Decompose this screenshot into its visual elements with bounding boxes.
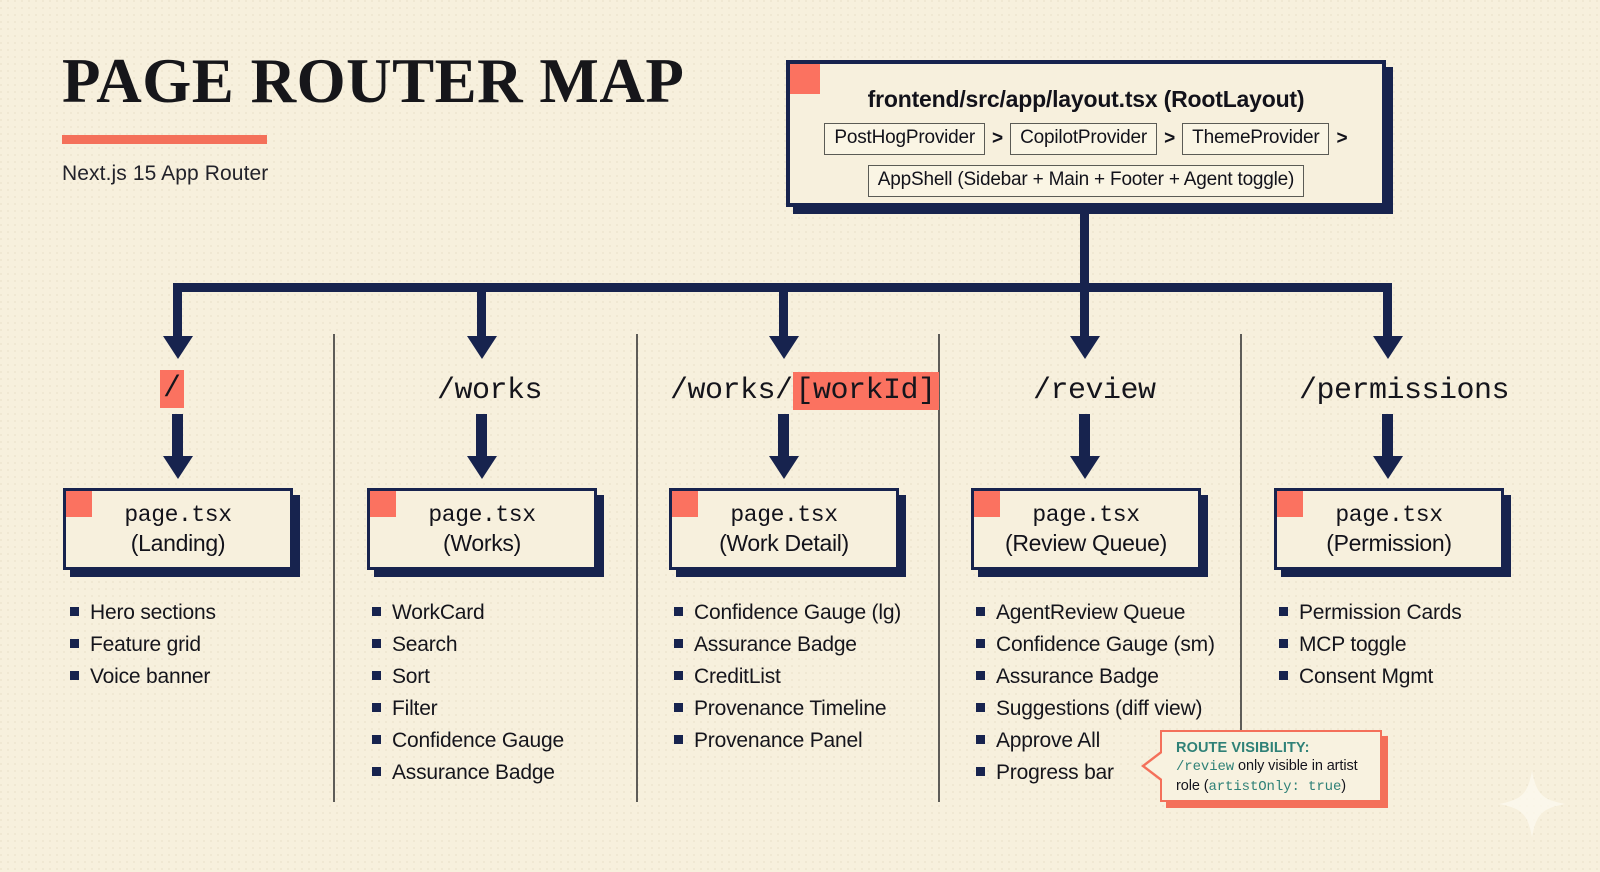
list-item: Provenance Timeline (674, 697, 901, 721)
route-segment-static: /works/ (670, 374, 793, 408)
list-item-label: AgentReview Queue (996, 601, 1185, 625)
column-divider-1 (333, 334, 335, 802)
arrow-head-down-1 (163, 336, 193, 359)
arrow-head-down-page-4 (1070, 456, 1100, 479)
bullet-square-icon (976, 607, 985, 616)
page-box-component: (Landing) (131, 530, 225, 557)
title-block: PAGE ROUTER MAP Next.js 15 App Router (62, 48, 762, 186)
bullet-square-icon (976, 767, 985, 776)
connector-trunk-vertical (1080, 207, 1089, 291)
bullet-square-icon (372, 607, 381, 616)
route-label-landing: / (160, 372, 184, 406)
page-title: PAGE ROUTER MAP (62, 48, 762, 114)
provider-chain-row: PostHogProvider > CopilotProvider > Them… (790, 123, 1382, 155)
connector-route-to-page-1 (172, 414, 183, 460)
page-box-permissions: page.tsx (Permission) (1274, 488, 1504, 570)
page-box-landing: page.tsx (Landing) (63, 488, 293, 570)
list-item: Provenance Panel (674, 729, 901, 753)
list-item-label: Sort (392, 665, 430, 689)
list-item: Suggestions (diff view) (976, 697, 1215, 721)
arrow-head-down-5 (1373, 336, 1403, 359)
list-item-label: Assurance Badge (392, 761, 555, 785)
list-item-label: WorkCard (392, 601, 485, 625)
bullet-square-icon (70, 671, 79, 680)
arrow-head-down-3 (769, 336, 799, 359)
list-item-label: Progress bar (996, 761, 1114, 785)
arrow-head-down-page-1 (163, 456, 193, 479)
callout-heading: ROUTE VISIBILITY: (1176, 740, 1370, 756)
list-item-label: Consent Mgmt (1299, 665, 1433, 689)
list-item: AgentReview Queue (976, 601, 1215, 625)
bullet-square-icon (372, 639, 381, 648)
feature-list-landing: Hero sections Feature grid Voice banner (70, 601, 216, 697)
connector-route-to-page-5 (1382, 414, 1393, 460)
callout-code-flag: artistOnly: true (1208, 779, 1341, 795)
list-item: Filter (372, 697, 564, 721)
bullet-square-icon (674, 735, 683, 744)
bullet-square-icon (70, 607, 79, 616)
list-item: MCP toggle (1279, 633, 1462, 657)
bullet-square-icon (976, 703, 985, 712)
list-item-label: MCP toggle (1299, 633, 1406, 657)
page-box-file: page.tsx (124, 502, 231, 528)
list-item: Confidence Gauge (lg) (674, 601, 901, 625)
callout-body: /review only visible in artist role (art… (1176, 757, 1370, 797)
arrow-head-down-2 (467, 336, 497, 359)
feature-list-permissions: Permission Cards MCP toggle Consent Mgmt (1279, 601, 1462, 697)
bullet-square-icon (674, 607, 683, 616)
list-item-label: CreditList (694, 665, 781, 689)
list-item: Search (372, 633, 564, 657)
chain-separator: > (1164, 128, 1175, 150)
bullet-square-icon (372, 735, 381, 744)
connector-drop-5 (1383, 283, 1392, 340)
route-label-works: /works (437, 374, 542, 408)
list-item-label: Search (392, 633, 457, 657)
bullet-square-icon (372, 671, 381, 680)
connector-drop-2 (477, 283, 486, 340)
route-segment-static: /review (1033, 374, 1156, 408)
list-item: Assurance Badge (976, 665, 1215, 689)
bullet-square-icon (674, 703, 683, 712)
appshell-row: AppShell (Sidebar + Main + Footer + Agen… (790, 165, 1382, 197)
arrow-head-down-page-3 (769, 456, 799, 479)
bullet-square-icon (372, 703, 381, 712)
diagram-canvas: PAGE ROUTER MAP Next.js 15 App Router fr… (0, 0, 1600, 872)
list-item-label: Assurance Badge (694, 633, 857, 657)
page-box-file: page.tsx (1335, 502, 1442, 528)
list-item-label: Confidence Gauge (392, 729, 564, 753)
bullet-square-icon (372, 767, 381, 776)
list-item: Feature grid (70, 633, 216, 657)
bullet-square-icon (976, 671, 985, 680)
list-item-label: Hero sections (90, 601, 216, 625)
route-label-review: /review (1033, 374, 1156, 408)
arrow-head-down-page-2 (467, 456, 497, 479)
callout-code-route: /review (1176, 759, 1234, 775)
callout-notch-fill (1145, 750, 1166, 782)
route-segment-static: /works (437, 374, 542, 408)
arrow-head-down-page-5 (1373, 456, 1403, 479)
route-label-work-detail: /works/[workId] (670, 374, 939, 408)
list-item: Voice banner (70, 665, 216, 689)
list-item-label: Permission Cards (1299, 601, 1462, 625)
feature-list-work-detail: Confidence Gauge (lg) Assurance Badge Cr… (674, 601, 901, 761)
page-box-component: (Permission) (1326, 530, 1451, 557)
route-segment-highlighted: / (160, 370, 184, 408)
title-underline-rule (62, 135, 267, 144)
page-box-component: (Works) (443, 530, 521, 557)
connector-drop-1 (173, 283, 182, 340)
route-segment-highlighted: [workId] (793, 372, 939, 410)
bullet-square-icon (976, 639, 985, 648)
list-item: Consent Mgmt (1279, 665, 1462, 689)
page-box-file: page.tsx (1032, 502, 1139, 528)
page-box-file: page.tsx (428, 502, 535, 528)
provider-chip-theme: ThemeProvider (1182, 123, 1329, 155)
bullet-square-icon (674, 671, 683, 680)
list-item: WorkCard (372, 601, 564, 625)
route-label-permissions: /permissions (1299, 374, 1509, 408)
connector-route-to-page-4 (1079, 414, 1090, 460)
connector-route-to-page-2 (476, 414, 487, 460)
list-item-label: Suggestions (diff view) (996, 697, 1202, 721)
page-box-component: (Review Queue) (1005, 530, 1167, 557)
appshell-chip: AppShell (Sidebar + Main + Footer + Agen… (868, 165, 1304, 197)
page-box-work-detail: page.tsx (Work Detail) (669, 488, 899, 570)
bullet-square-icon (674, 639, 683, 648)
page-box-file: page.tsx (730, 502, 837, 528)
connector-route-to-page-3 (778, 414, 789, 460)
list-item: Confidence Gauge (372, 729, 564, 753)
list-item: Assurance Badge (372, 761, 564, 785)
list-item: Hero sections (70, 601, 216, 625)
feature-list-works: WorkCard Search Sort Filter Confidence G… (372, 601, 564, 793)
list-item: Assurance Badge (674, 633, 901, 657)
provider-chip-copilot: CopilotProvider (1010, 123, 1157, 155)
chain-separator: > (1336, 128, 1347, 150)
root-layout-card: frontend/src/app/layout.tsx (RootLayout)… (786, 60, 1386, 207)
chain-separator: > (992, 128, 1003, 150)
bullet-square-icon (1279, 671, 1288, 680)
route-visibility-callout: ROUTE VISIBILITY: /review only visible i… (1160, 730, 1382, 802)
page-box-works: page.tsx (Works) (367, 488, 597, 570)
list-item: CreditList (674, 665, 901, 689)
list-item: Confidence Gauge (sm) (976, 633, 1215, 657)
callout-text-2: ) (1341, 778, 1346, 794)
bullet-square-icon (1279, 639, 1288, 648)
bullet-square-icon (976, 735, 985, 744)
list-item-label: Feature grid (90, 633, 201, 657)
list-item-label: Provenance Timeline (694, 697, 886, 721)
column-divider-2 (636, 334, 638, 802)
root-layout-title: frontend/src/app/layout.tsx (RootLayout) (790, 86, 1382, 113)
connector-drop-4 (1080, 283, 1089, 340)
list-item-label: Filter (392, 697, 437, 721)
list-item: Sort (372, 665, 564, 689)
bullet-square-icon (1279, 607, 1288, 616)
bullet-square-icon (70, 639, 79, 648)
list-item-label: Assurance Badge (996, 665, 1159, 689)
list-item-label: Provenance Panel (694, 729, 862, 753)
sparkle-icon (1496, 768, 1568, 840)
list-item-label: Voice banner (90, 665, 210, 689)
provider-chip-posthog: PostHogProvider (824, 123, 985, 155)
connector-drop-3 (779, 283, 788, 340)
arrow-head-down-4 (1070, 336, 1100, 359)
page-subtitle: Next.js 15 App Router (62, 162, 762, 186)
corner-accent-square (790, 64, 820, 94)
list-item: Permission Cards (1279, 601, 1462, 625)
page-box-component: (Work Detail) (719, 530, 849, 557)
page-box-review: page.tsx (Review Queue) (971, 488, 1201, 570)
list-item-label: Approve All (996, 729, 1100, 753)
list-item-label: Confidence Gauge (sm) (996, 633, 1215, 657)
list-item-label: Confidence Gauge (lg) (694, 601, 901, 625)
route-segment-static: /permissions (1299, 374, 1509, 408)
